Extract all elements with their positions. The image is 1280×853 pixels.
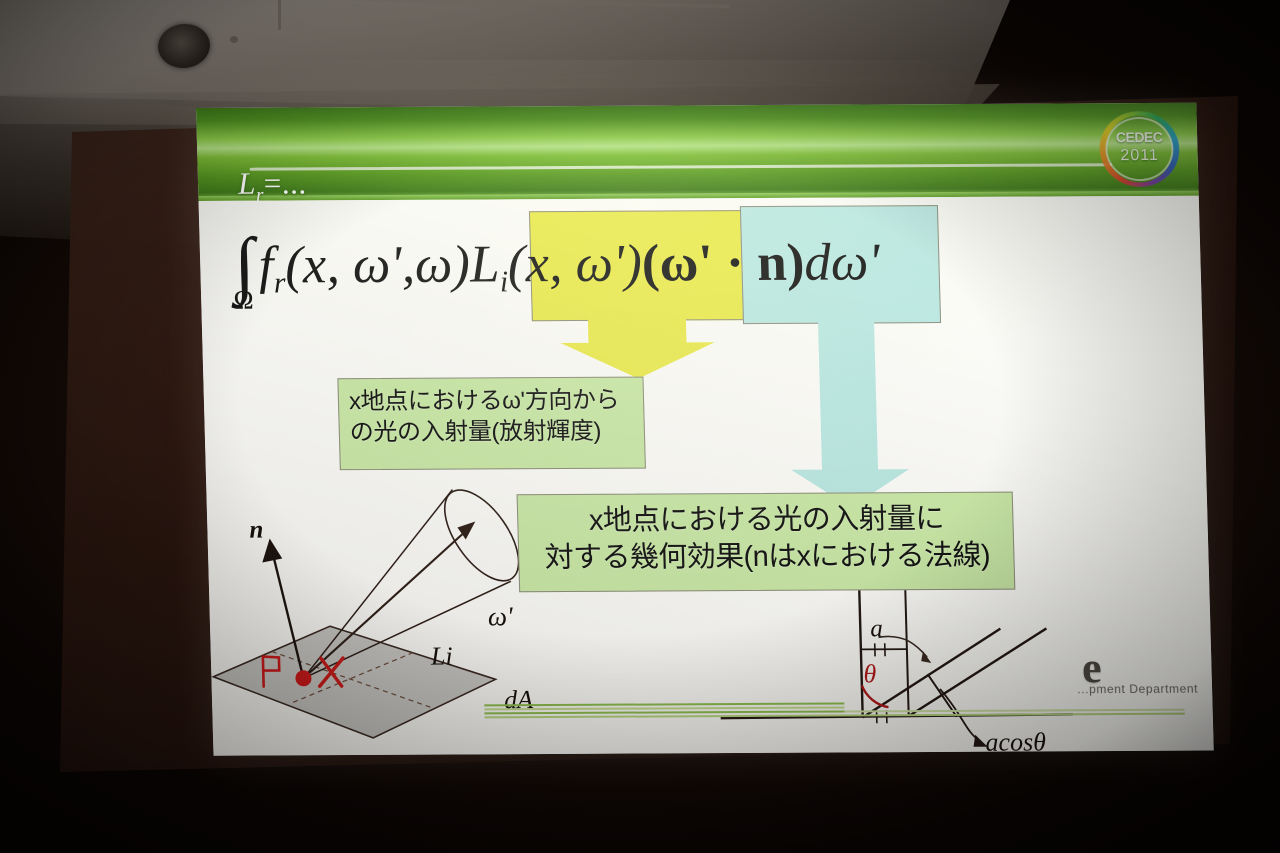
corporate-logo-text: ...pment Department — [1028, 681, 1198, 696]
rendering-equation: ∫Ωfr(x, ω',ω)Li(x, ω')(ω' · n)dω' — [233, 219, 881, 315]
cosine-term: (ω' · n) — [641, 234, 805, 293]
cedec-logo-text: CEDEC — [1097, 129, 1181, 145]
title-rest: =... — [263, 165, 307, 200]
label-omega-prime: ω' — [487, 601, 513, 632]
slide-body: ∫Ωfr(x, ω',ω)Li(x, ω')(ω' · n)dω' x地点におけ… — [199, 196, 1214, 756]
incident-radiance-symbol: L — [469, 235, 500, 293]
radiance-callout-box: x地点におけるω'方向から の光の入射量(放射輝度) — [337, 377, 646, 471]
a-pointer-curve — [879, 636, 928, 657]
label-incident-radiance: Li — [431, 642, 454, 672]
surface-patch — [212, 625, 497, 738]
wall-left — [859, 589, 862, 717]
label-a: a — [870, 615, 883, 643]
wall-right — [905, 589, 908, 716]
yellow-callout-arrow — [560, 316, 716, 379]
slide-header-band: Lr=... CEDEC 2011 — [196, 103, 1199, 200]
label-acos-theta: acosθ — [985, 727, 1046, 755]
label-theta: θ — [863, 659, 877, 689]
cedec-logo: CEDEC 2011 — [1096, 109, 1182, 189]
header-underline — [250, 163, 1112, 171]
corporate-logo: e ...pment Department — [1027, 648, 1199, 721]
geometry-callout-line2: 対する幾何効果(nはxにおける法線) — [531, 538, 1004, 578]
projection-screen-area: Lr=... CEDEC 2011 ∫Ωfr(x, ω',ω)Li(x, ω')… — [0, 0, 1280, 853]
brdf-symbol: f — [258, 237, 274, 295]
brdf-subscript: r — [273, 266, 286, 299]
brdf-arguments: (x, ω',ω) — [284, 236, 470, 295]
geometry-callout-box: x地点における光の入射量に 対する幾何効果(nはxにおける法線) — [517, 492, 1016, 593]
label-normal: n — [249, 517, 264, 545]
differential-measure: dω' — [803, 233, 880, 291]
radiance-callout-line2: の光の入射量(放射輝度) — [349, 416, 636, 448]
cedec-logo-year: 2011 — [1097, 147, 1182, 165]
presentation-slide: Lr=... CEDEC 2011 ∫Ωfr(x, ω',ω)Li(x, ω')… — [196, 103, 1214, 756]
geometry-callout-line1: x地点における光の入射量に — [530, 501, 1003, 541]
normal-arrowhead — [262, 538, 283, 562]
title-symbol: L — [238, 166, 257, 201]
cyan-callout-arrow — [787, 319, 910, 508]
radiance-callout-line1: x地点におけるω'方向から — [349, 386, 636, 418]
incident-radiance-arguments: (x, ω') — [507, 235, 643, 294]
integral-domain: Ω — [233, 285, 254, 315]
